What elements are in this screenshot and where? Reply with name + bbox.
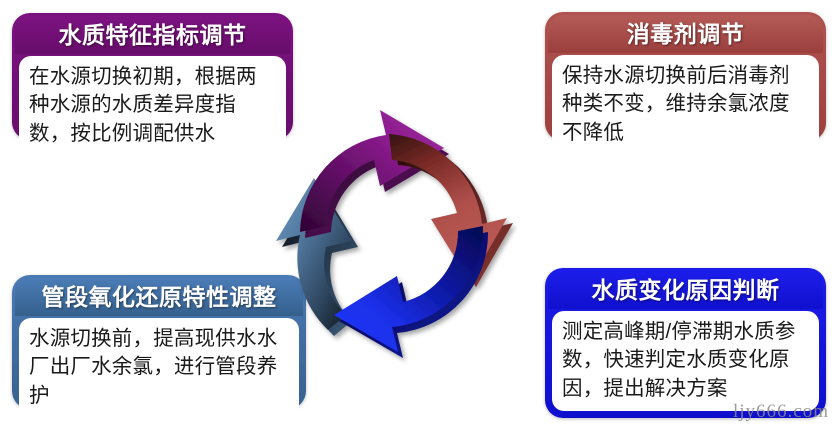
watermark-text: ljy666.com xyxy=(733,401,829,423)
card-header-pipeline-redox-adjustment: 管段氧化还原特性调整 xyxy=(15,278,303,316)
card-water-quality-adjustment[interactable]: 水质特征指标调节 在水源切换初期，根据两种水源的水质差异度指数，按比例调配供水 xyxy=(12,13,293,140)
diagram-canvas: 水质特征指标调节 在水源切换初期，根据两种水源的水质差异度指数，按比例调配供水 … xyxy=(0,0,837,426)
card-text-water-quality-cause-judgment: 测定高峰期/停滞期水质参数，快速判定水质变化原因，提出解决方案 xyxy=(562,318,809,403)
card-body-pipeline-redox-adjustment: 水源切换前，提高现供水水厂出厂水余氯，进行管段养护 xyxy=(19,318,299,418)
card-header-water-quality-adjustment: 水质特征指标调节 xyxy=(15,16,290,54)
top-arrow-purple xyxy=(300,110,449,238)
card-disinfectant-adjustment[interactable]: 消毒剂调节 保持水源切换前后消毒剂种类不变，维持余氯浓度不降低 xyxy=(545,12,826,141)
card-header-disinfectant-adjustment: 消毒剂调节 xyxy=(548,15,823,53)
cycle-arrows-diagram xyxy=(268,30,568,390)
card-pipeline-redox-adjustment[interactable]: 管段氧化还原特性调整 水源切换前，提高现供水水厂出厂水余氯，进行管段养护 xyxy=(12,275,306,409)
card-water-quality-cause-judgment[interactable]: 水质变化原因判断 测定高峰期/停滞期水质参数，快速判定水质变化原因，提出解决方案 xyxy=(545,268,826,418)
card-body-water-quality-adjustment: 在水源切换初期，根据两种水源的水质差异度指数，按比例调配供水 xyxy=(19,56,286,156)
card-body-disinfectant-adjustment: 保持水源切换前后消毒剂种类不变，维持余氯浓度不降低 xyxy=(552,55,819,155)
card-text-water-quality-adjustment: 在水源切换初期，根据两种水源的水质差异度指数，按比例调配供水 xyxy=(29,63,276,148)
card-text-pipeline-redox-adjustment: 水源切换前，提高现供水水厂出厂水余氯，进行管段养护 xyxy=(29,325,289,410)
card-body-water-quality-cause-judgment: 测定高峰期/停滞期水质参数，快速判定水质变化原因，提出解决方案 xyxy=(552,311,819,411)
card-text-disinfectant-adjustment: 保持水源切换前后消毒剂种类不变，维持余氯浓度不降低 xyxy=(562,62,809,147)
card-header-water-quality-cause-judgment: 水质变化原因判断 xyxy=(548,271,823,309)
